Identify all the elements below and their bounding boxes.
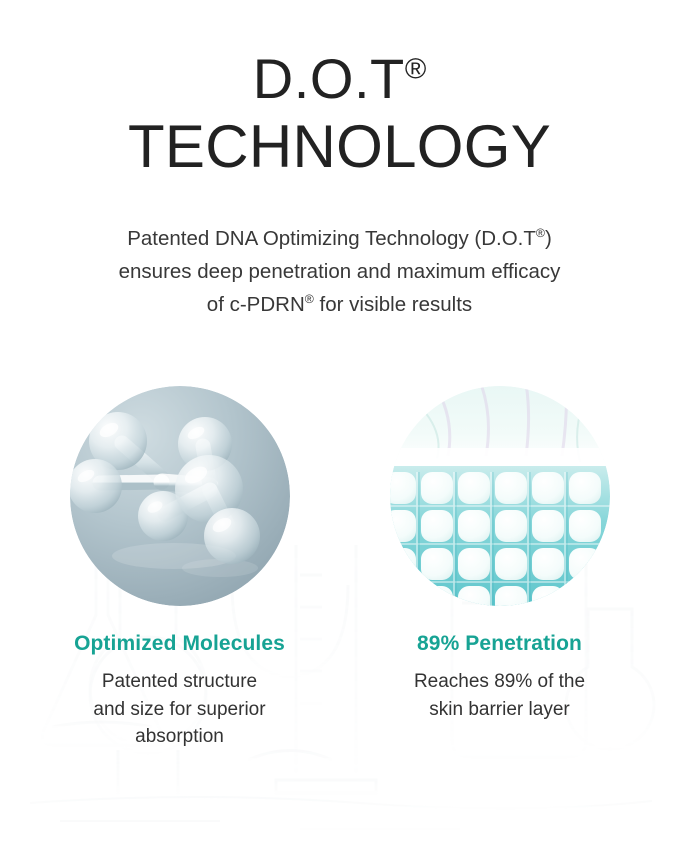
skin-barrier-lattice-illustration [390, 386, 610, 606]
title-text: D.O.T [253, 47, 405, 110]
subtitle-line-1: Patented DNA Optimizing Technology (D.O.… [40, 222, 640, 255]
feature-list: Optimized Molecules Patented structure a… [0, 386, 679, 751]
molecule-circle [70, 386, 290, 606]
subtitle: Patented DNA Optimizing Technology (D.O.… [40, 222, 640, 322]
subtitle-line-1-tail: ) [545, 227, 552, 250]
registered-trademark-icon: ® [305, 293, 314, 307]
subtitle-line-3: of c-PDRN® for visible results [40, 288, 640, 321]
feature-body: Patented structure and size for superior… [93, 668, 265, 751]
feature-heading: 89% Penetration [417, 632, 582, 656]
molecule-3d-illustration [70, 386, 290, 606]
feature-heading: Optimized Molecules [74, 632, 285, 656]
skin-barrier-circle [390, 386, 610, 606]
feature-body-line: and size for superior [93, 696, 265, 724]
title-line-secondary: TECHNOLOGY [0, 115, 679, 178]
registered-trademark-icon: ® [405, 53, 426, 85]
feature-body: Reaches 89% of the skin barrier layer [414, 668, 585, 723]
subtitle-line-2: ensures deep penetration and maximum eff… [40, 255, 640, 288]
feature-optimized-molecules: Optimized Molecules Patented structure a… [69, 386, 291, 751]
page-title: D.O.T® TECHNOLOGY [0, 50, 679, 178]
title-line-primary: D.O.T® [0, 50, 679, 109]
feature-body-line: absorption [93, 723, 265, 751]
subtitle-line-3-text: of c-PDRN [207, 293, 305, 316]
dot-technology-infographic: D.O.T® TECHNOLOGY Patented DNA Optimizin… [0, 0, 679, 849]
feature-penetration: 89% Penetration Reaches 89% of the skin … [389, 386, 611, 751]
feature-body-line: Patented structure [93, 668, 265, 696]
feature-body-line: skin barrier layer [414, 696, 585, 724]
feature-body-line: Reaches 89% of the [414, 668, 585, 696]
subtitle-line-1-text: Patented DNA Optimizing Technology (D.O.… [127, 227, 536, 250]
subtitle-line-3-tail: for visible results [314, 293, 472, 316]
